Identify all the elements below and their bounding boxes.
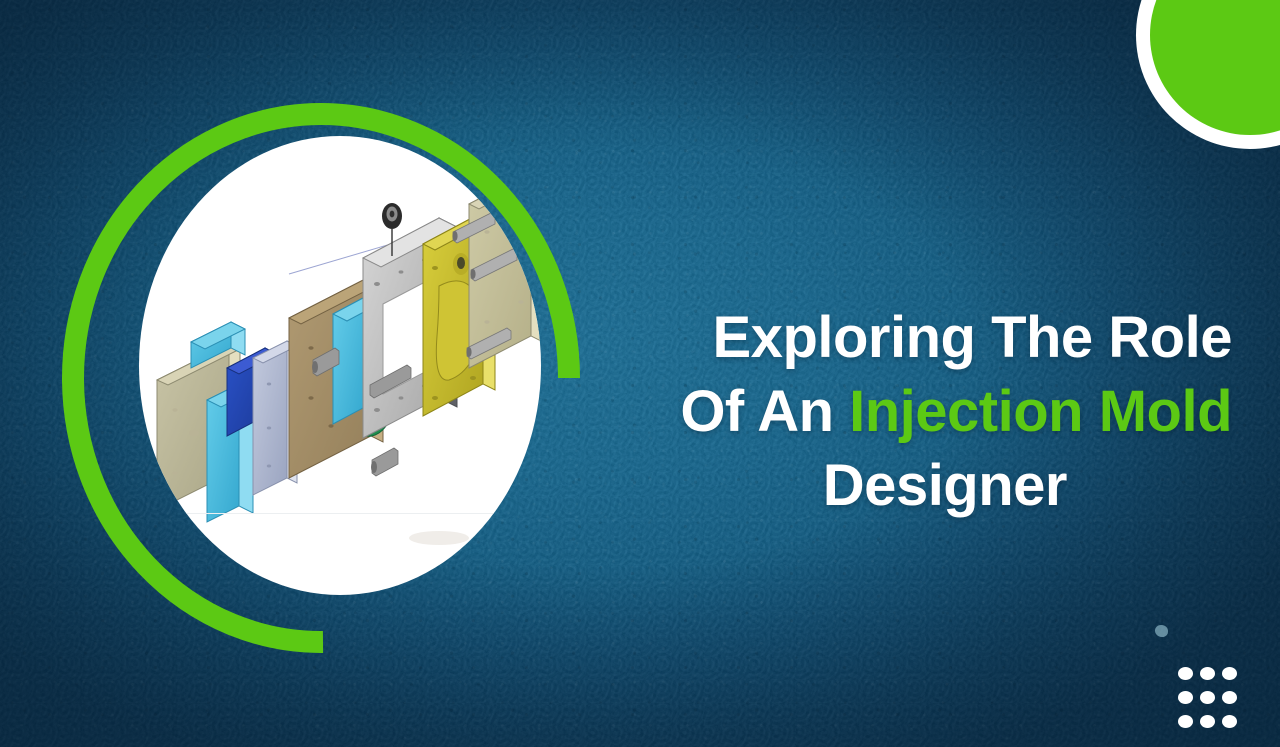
- title-line-3: Designer: [600, 449, 1232, 523]
- grid-dot: [1222, 667, 1237, 680]
- light-speck: [1155, 625, 1168, 637]
- grid-dot: [1200, 715, 1215, 728]
- grid-dot: [1222, 715, 1237, 728]
- grid-dot: [1178, 715, 1193, 728]
- image-baseline-rule: [139, 513, 541, 514]
- grid-dot: [1222, 691, 1237, 704]
- page-title: Exploring The Role Of An Injection Mold …: [600, 301, 1232, 523]
- title-line-2: Of An Injection Mold: [600, 375, 1232, 449]
- grid-dot: [1178, 667, 1193, 680]
- title-line-2-accent: Injection Mold: [849, 379, 1232, 444]
- grid-dot: [1178, 691, 1193, 704]
- grid-dot: [1200, 667, 1215, 680]
- injection-mold-exploded-view-icon: [139, 136, 541, 595]
- banner-canvas: Exploring The Role Of An Injection Mold …: [0, 0, 1280, 747]
- mold-image-circle: [139, 136, 541, 595]
- grid-dot: [1200, 691, 1215, 704]
- dot-grid-decoration: [1178, 667, 1244, 739]
- title-line-1: Exploring The Role: [600, 301, 1232, 375]
- title-line-2-plain: Of An: [680, 379, 849, 444]
